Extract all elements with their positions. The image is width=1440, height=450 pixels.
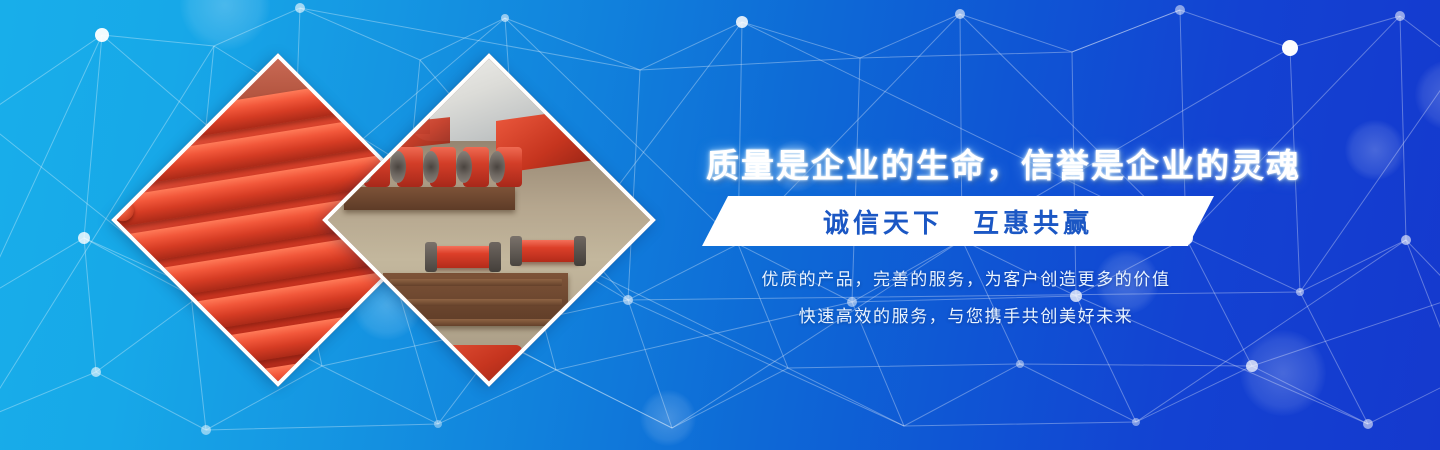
promo-banner: 质量是企业的生命，信誉是企业的灵魂 诚信天下 互惠共赢 优质的产品，完善的服务，… [0, 0, 1440, 450]
banner-subline-1: 优质的产品，完善的服务，为客户创造更多的价值 [706, 265, 1226, 290]
banner-subline-2: 快速高效的服务，与您携手共创美好未来 [706, 302, 1226, 327]
slogan-ribbon: 诚信天下 互惠共赢 [702, 196, 1214, 246]
slogan-ribbon-text: 诚信天下 互惠共赢 [823, 203, 1093, 240]
banner-headline: 质量是企业的生命，信誉是企业的灵魂 [706, 139, 1226, 187]
